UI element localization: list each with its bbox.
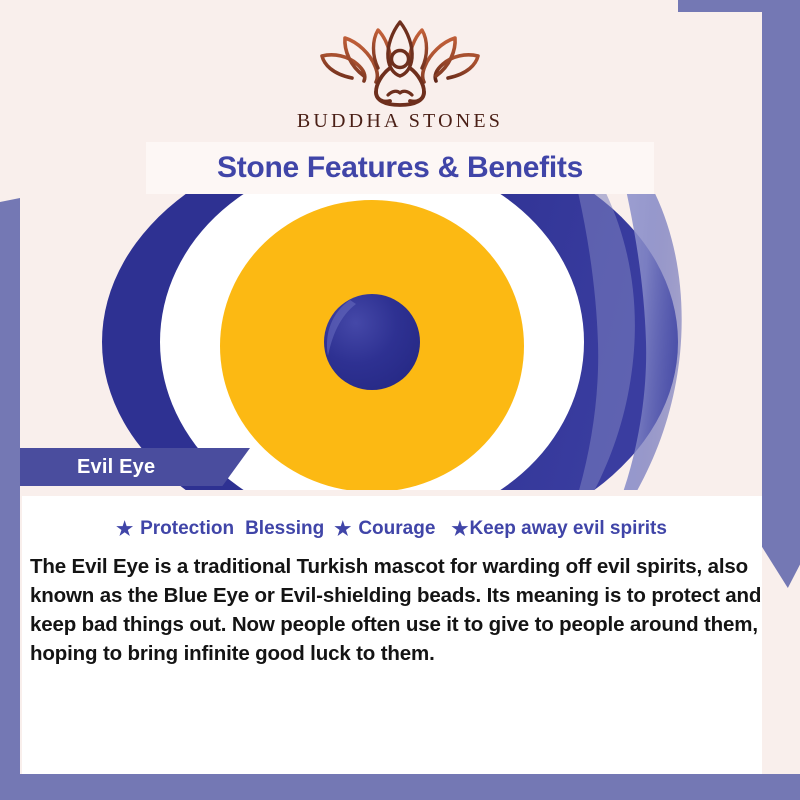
brand-wordmark: BUDDHA STONES xyxy=(297,110,503,133)
frame-band-bottom-left xyxy=(0,774,52,800)
benefit-item-blessing: Blessing xyxy=(245,518,324,540)
frame-band-bottom xyxy=(0,774,800,800)
description-text: The Evil Eye is a traditional Turkish ma… xyxy=(30,552,778,668)
benefit-item-courage: Courage xyxy=(358,518,435,540)
frame-band-left xyxy=(0,198,20,800)
hero-caption-banner: Evil Eye xyxy=(20,448,250,486)
page-title: Stone Features & Benefits xyxy=(217,151,583,185)
benefits-list: ★ Protection Blessing ★ Courage ★ Keep a… xyxy=(22,518,762,540)
benefit-item-keep-away-evil-spirits: Keep away evil spirits xyxy=(469,518,667,540)
evil-eye-bead-illustration xyxy=(20,194,762,490)
hero-image xyxy=(20,194,762,490)
description-block: The Evil Eye is a traditional Turkish ma… xyxy=(30,552,778,668)
star-icon: ★ xyxy=(116,520,133,539)
hero-caption-label: Evil Eye xyxy=(77,456,155,479)
star-icon-2: ★ xyxy=(334,520,351,539)
lotus-meditation-icon xyxy=(312,16,488,108)
benefit-item-protection: Protection xyxy=(140,518,234,540)
brand-logo: BUDDHA STONES xyxy=(0,16,800,133)
section-title-banner: Stone Features & Benefits xyxy=(146,142,654,194)
star-icon-3: ★ xyxy=(451,520,468,539)
